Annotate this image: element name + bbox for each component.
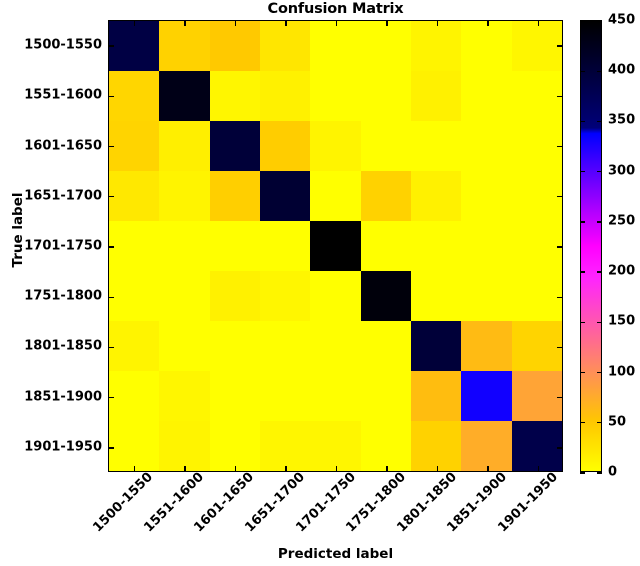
colorbar-tick-label: 200 bbox=[608, 264, 635, 279]
colorbar-tick-label: 100 bbox=[608, 364, 635, 379]
confusion-matrix-figure: Confusion Matrix 1500-15501551-16001601-… bbox=[0, 0, 640, 566]
colorbar-tick-label: 400 bbox=[608, 63, 635, 78]
colorbar-tick-label-group: 050100150200250300350400450 bbox=[0, 0, 640, 566]
colorbar-tick-label: 150 bbox=[608, 314, 635, 329]
colorbar-tick-label: 450 bbox=[608, 13, 635, 28]
colorbar-tick-label: 300 bbox=[608, 163, 635, 178]
colorbar-tick-label: 350 bbox=[608, 113, 635, 128]
colorbar-tick-label: 0 bbox=[608, 465, 617, 480]
colorbar-tick-label: 250 bbox=[608, 213, 635, 228]
colorbar-tick-label: 50 bbox=[608, 414, 626, 429]
